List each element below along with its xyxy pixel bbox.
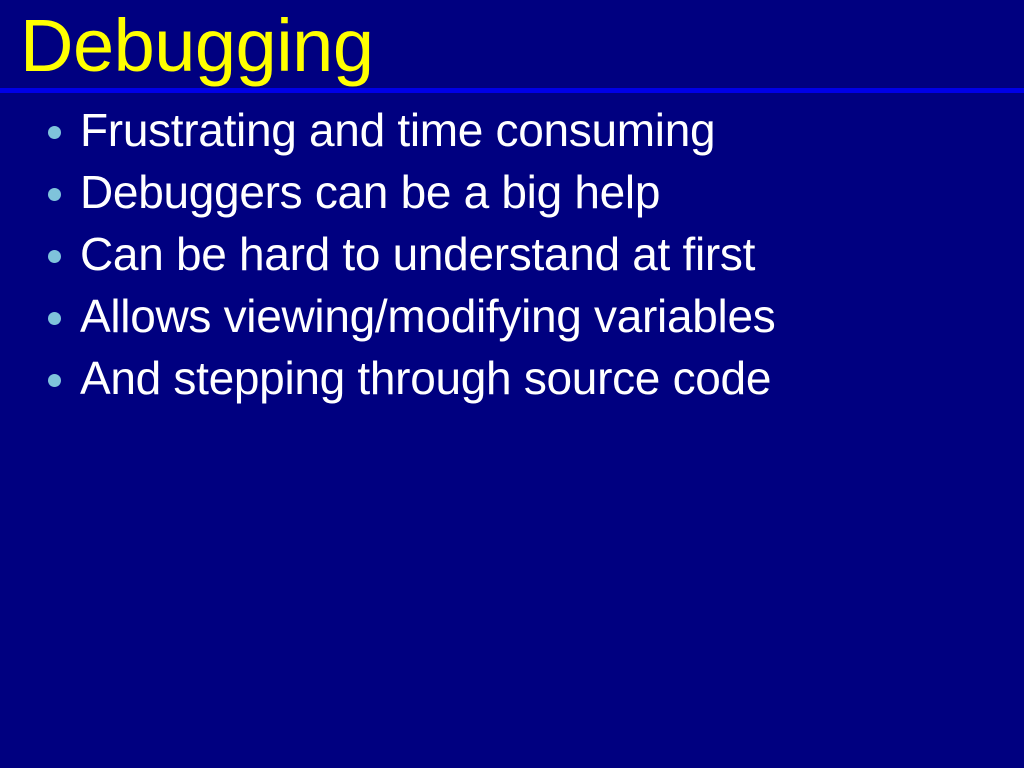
list-item-label: Debuggers can be a big help — [80, 161, 660, 223]
title-divider — [0, 88, 1024, 93]
bullet-point-icon — [48, 250, 61, 263]
list-item: Frustrating and time consuming — [0, 99, 1024, 161]
page-title: Debugging — [20, 2, 1000, 90]
list-item-label: Frustrating and time consuming — [80, 99, 715, 161]
list-item: Can be hard to understand at first — [0, 223, 1024, 285]
list-item: And stepping through source code — [0, 347, 1024, 409]
bullet-point-icon — [48, 126, 61, 139]
bullet-point-icon — [48, 312, 61, 325]
list-item: Debuggers can be a big help — [0, 161, 1024, 223]
list-item-label: Can be hard to understand at first — [80, 223, 755, 285]
list-item-label: Allows viewing/modifying variables — [80, 285, 775, 347]
list-item: Allows viewing/modifying variables — [0, 285, 1024, 347]
bullet-point-icon — [48, 188, 61, 201]
presentation-slide: Debugging Frustrating and time consuming… — [0, 0, 1024, 768]
bullet-point-icon — [48, 374, 61, 387]
bullet-list: Frustrating and time consuming Debuggers… — [0, 99, 1024, 409]
list-item-label: And stepping through source code — [80, 347, 771, 409]
